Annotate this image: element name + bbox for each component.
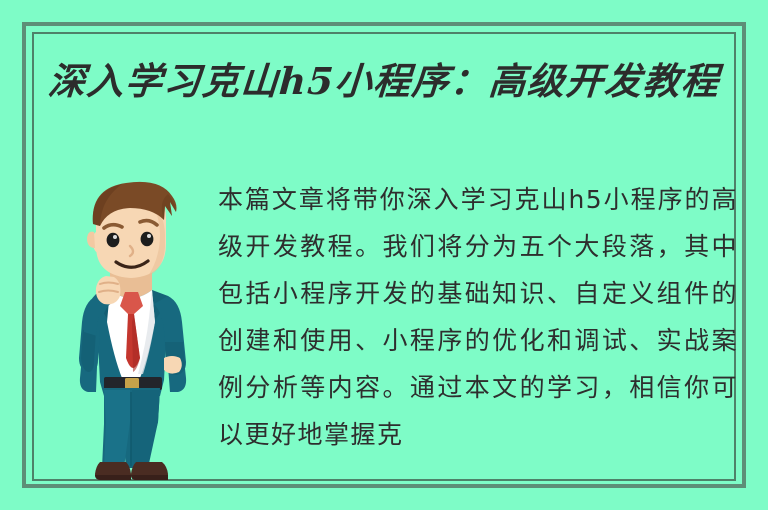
article-body-text: 本篇文章将带你深入学习克山h5小程序的高级开发教程。我们将分为五个大段落，其中包… [218,176,738,458]
poster-canvas: 深入学习克山h5小程序：高级开发教程 [0,0,768,510]
page-title: 深入学习克山h5小程序：高级开发教程 [38,58,729,104]
thinking-businessman-illustration [52,172,210,484]
